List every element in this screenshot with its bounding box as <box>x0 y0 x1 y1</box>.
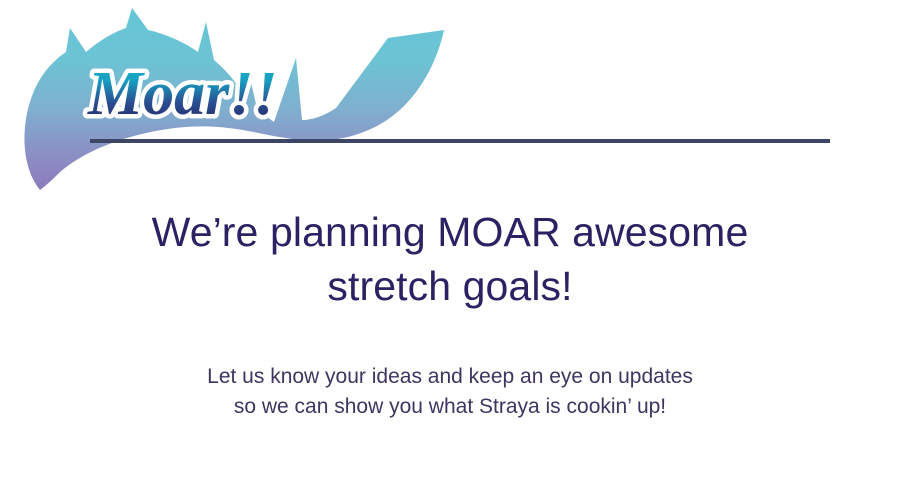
page-title: We’re planning MOAR awesome stretch goal… <box>90 205 810 313</box>
divider-rule <box>90 139 830 143</box>
subtext-line-1: Let us know your ideas and keep an eye o… <box>90 362 810 392</box>
headline-line-1: We’re planning MOAR awesome <box>152 209 749 255</box>
logo-wordmark: Moar!! Moar!! <box>82 52 312 134</box>
subtitle-text: Let us know your ideas and keep an eye o… <box>90 362 810 422</box>
subtext-line-2: so we can show you what Straya is cookin… <box>90 392 810 422</box>
slide-canvas: Moar!! Moar!! We’re planning MOAR awesom… <box>0 0 900 500</box>
logo-wordmark-text: Moar!! <box>87 60 278 128</box>
headline-line-2: stretch goals! <box>327 263 572 309</box>
